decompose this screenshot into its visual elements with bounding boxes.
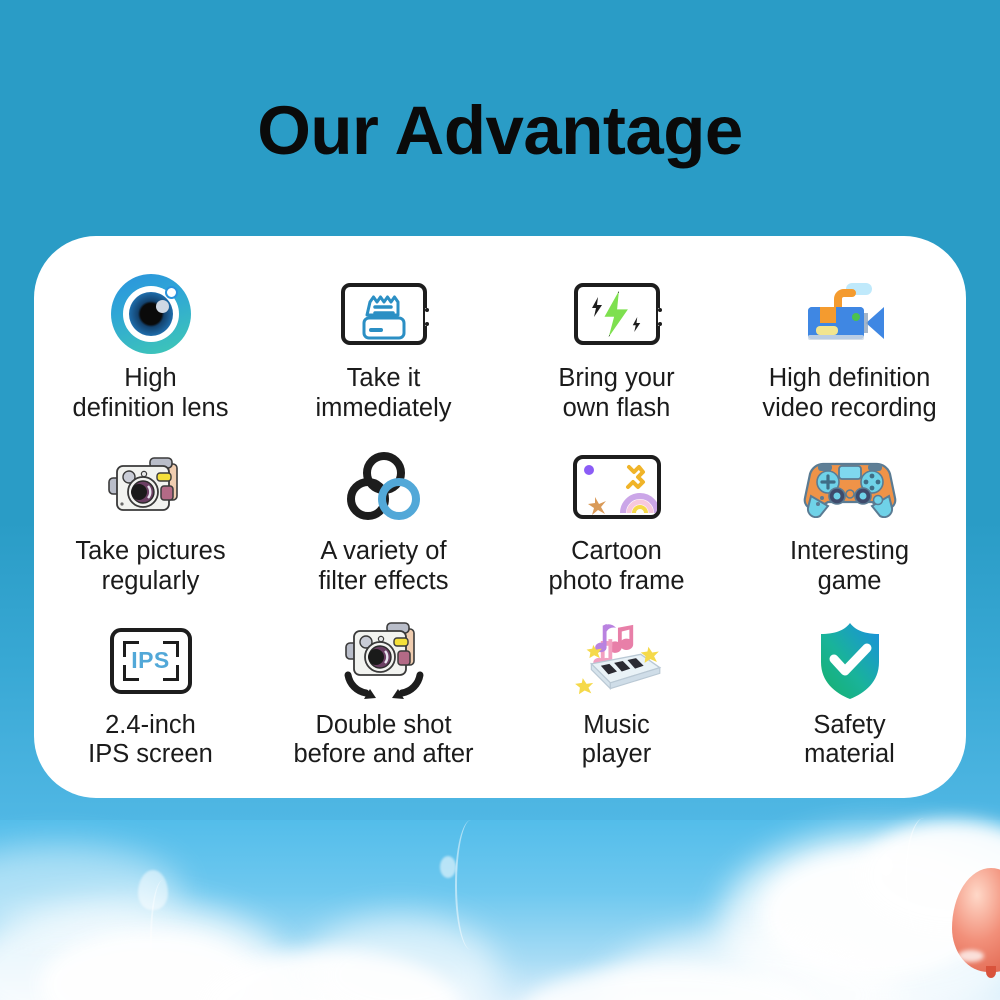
feature-label: Interesting game [790, 537, 909, 596]
features-grid: High definition lens [34, 270, 966, 790]
bolt-small-top [590, 297, 604, 317]
ring-right-blue [378, 478, 420, 520]
feature-label: High definition lens [73, 364, 229, 423]
feature-label: 2.4-inch IPS screen [88, 711, 213, 770]
feature-label: Double shot before and after [293, 711, 473, 770]
photo-frame-icon [563, 443, 671, 531]
feature-item-game[interactable]: Interesting game [733, 443, 966, 616]
feature-label: Cartoon photo frame [548, 537, 684, 596]
feature-item-double-shot[interactable]: Double shot before and after [267, 617, 500, 790]
ips-screen-icon: IPS [97, 617, 205, 705]
feature-label: Take it immediately [315, 364, 451, 423]
instant-print-icon [330, 270, 438, 358]
feature-item-filter-effects[interactable]: A variety of filter effects [267, 443, 500, 616]
filter-rings-icon [330, 443, 438, 531]
hd-lens-icon [97, 270, 205, 358]
feature-item-own-flash[interactable]: Bring your own flash [500, 270, 733, 443]
bolt-large [602, 291, 632, 337]
feature-item-music-player[interactable]: Music player [500, 617, 733, 790]
balloon-ghost-left [138, 870, 168, 910]
feature-label: High definition video recording [762, 364, 936, 423]
bolt-small-bottom [631, 317, 642, 332]
features-card: High definition lens [34, 236, 966, 798]
double-shot-camera-icon [330, 617, 438, 705]
corner-bracket-br [163, 665, 179, 681]
printer-glyph [360, 294, 408, 344]
feature-label: A variety of filter effects [319, 537, 449, 596]
feature-label: Bring your own flash [558, 364, 674, 423]
balloon-ghost-mid [440, 856, 456, 878]
feature-item-hd-lens[interactable]: High definition lens [34, 270, 267, 443]
balloon-highlight [958, 950, 984, 962]
corner-bracket-bl [123, 665, 139, 681]
feature-item-video-recording[interactable]: High definition video recording [733, 270, 966, 443]
feature-label: Safety material [804, 711, 895, 770]
feature-item-take-immediately[interactable]: Take it immediately [267, 270, 500, 443]
feature-item-take-pictures[interactable]: Take pictures regularly [34, 443, 267, 616]
feature-item-ips-screen[interactable]: IPS 2.4-inch IPS screen [34, 617, 267, 790]
balloon-ghost-right [878, 855, 894, 877]
video-camera-icon [796, 270, 904, 358]
shield-check-icon [796, 617, 904, 705]
red-balloon-knot [986, 966, 996, 978]
feature-item-safety-material[interactable]: Safety material [733, 617, 966, 790]
feature-label: Music player [582, 711, 651, 770]
camera-icon [97, 443, 205, 531]
music-piano-icon [563, 617, 671, 705]
advantage-infographic: Our Advantage High definition lens [0, 0, 1000, 1000]
corner-bracket-tr [163, 641, 179, 657]
gamepad-icon [796, 443, 904, 531]
corner-bracket-tl [123, 641, 139, 657]
feature-label: Take pictures regularly [75, 537, 225, 596]
feature-item-photo-frame[interactable]: Cartoon photo frame [500, 443, 733, 616]
page-title: Our Advantage [0, 96, 1000, 165]
flash-bolt-icon [563, 270, 671, 358]
